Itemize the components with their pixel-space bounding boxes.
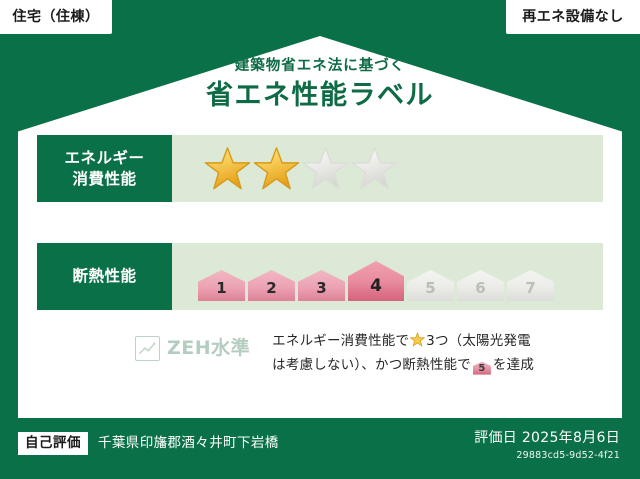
energy-performance-label-line1: エネルギー (64, 148, 144, 169)
criteria-text-part1: エネルギー消費性能で (272, 333, 409, 349)
star-icon (351, 145, 398, 192)
label-panel-inner: 建築物省エネ法に基づく 省エネ性能ラベル エネルギー 消費性能 (18, 36, 622, 418)
insulation-performance-row-body: 1 2 3 4 5 6 7 (172, 243, 603, 310)
star-rating (172, 145, 398, 192)
footer-left-group: 自己評価 千葉県印旛郡酒々井町下岩橋 (18, 432, 279, 455)
energy-performance-label: 住宅（住棟） 再エネ設備なし 建築物省エネ法に基づく 省エネ性能ラベル エネルギ… (0, 0, 640, 479)
energy-performance-row-body (172, 135, 603, 202)
insulation-grade-badge-current: 4 (348, 261, 404, 301)
insulation-grade-badge: 1 (198, 270, 245, 301)
energy-performance-row-label: エネルギー 消費性能 (37, 135, 172, 202)
page-title: 省エネ性能ラベル (18, 79, 622, 113)
label-panel: 建築物省エネ法に基づく 省エネ性能ラベル エネルギー 消費性能 (18, 36, 622, 418)
insulation-performance-label-line1: 断熱性能 (72, 266, 136, 287)
insulation-grade-badge: 6 (457, 270, 504, 301)
criteria-description-line2: は考慮しない）、かつ断熱性能で5を達成 (272, 354, 603, 378)
criteria-description: エネルギー消費性能で3つ（太陽光発電 は考慮しない）、かつ断熱性能で5を達成 (250, 328, 603, 377)
star-icon (253, 145, 300, 192)
insulation-performance-row: 断熱性能 1 2 3 4 5 6 7 (37, 243, 603, 310)
insulation-performance-row-label: 断熱性能 (37, 243, 172, 310)
insulation-grade-badge: 3 (298, 270, 345, 301)
criteria-text-part3: は考慮しない）、かつ断熱性能で (272, 357, 471, 373)
label-footer: 自己評価 千葉県印旛郡酒々井町下岩橋 評価日 2025年8月6日 29883cd… (0, 418, 640, 479)
property-address: 千葉県印旛郡酒々井町下岩橋 (98, 436, 279, 451)
evaluation-date: 評価日 2025年8月6日 (474, 430, 620, 447)
energy-performance-row: エネルギー 消費性能 (37, 135, 603, 202)
insulation-grade-badge: 5 (407, 270, 454, 301)
building-type-label: 住宅（住棟） (13, 10, 100, 24)
footer-right-group: 評価日 2025年8月6日 29883cd5-9d52-4f21 (474, 430, 620, 461)
inline-grade-badge: 5 (473, 362, 491, 375)
star-icon (302, 145, 349, 192)
criteria-description-line1: エネルギー消費性能で3つ（太陽光発電 (272, 330, 603, 354)
insulation-grade-badge: 2 (248, 270, 295, 301)
building-type-tab: 住宅（住棟） (0, 0, 112, 34)
zeh-chart-icon (135, 336, 160, 361)
label-subtitle: 建築物省エネ法に基づく (18, 58, 622, 75)
star-icon (410, 332, 425, 347)
renewable-equipment-label: 再エネ設備なし (522, 10, 624, 24)
renewable-equipment-tab: 再エネ設備なし (506, 0, 640, 34)
self-evaluation-badge: 自己評価 (18, 432, 88, 455)
zeh-label: ZEH水準 (167, 339, 250, 358)
title-block: 建築物省エネ法に基づく 省エネ性能ラベル (18, 58, 622, 113)
zeh-badge: ZEH水準 (37, 328, 250, 361)
energy-performance-label-line2: 消費性能 (72, 169, 136, 190)
insulation-grade-badge: 7 (507, 270, 554, 301)
star-icon (204, 145, 251, 192)
zeh-section: ZEH水準 エネルギー消費性能で3つ（太陽光発電 は考慮しない）、かつ断熱性能で… (37, 328, 603, 377)
insulation-grade-scale: 1 2 3 4 5 6 7 (172, 243, 554, 310)
label-identifier: 29883cd5-9d52-4f21 (474, 450, 620, 461)
criteria-text-part4: を達成 (493, 357, 534, 373)
criteria-text-part2: 3つ（太陽光発電 (426, 333, 531, 349)
